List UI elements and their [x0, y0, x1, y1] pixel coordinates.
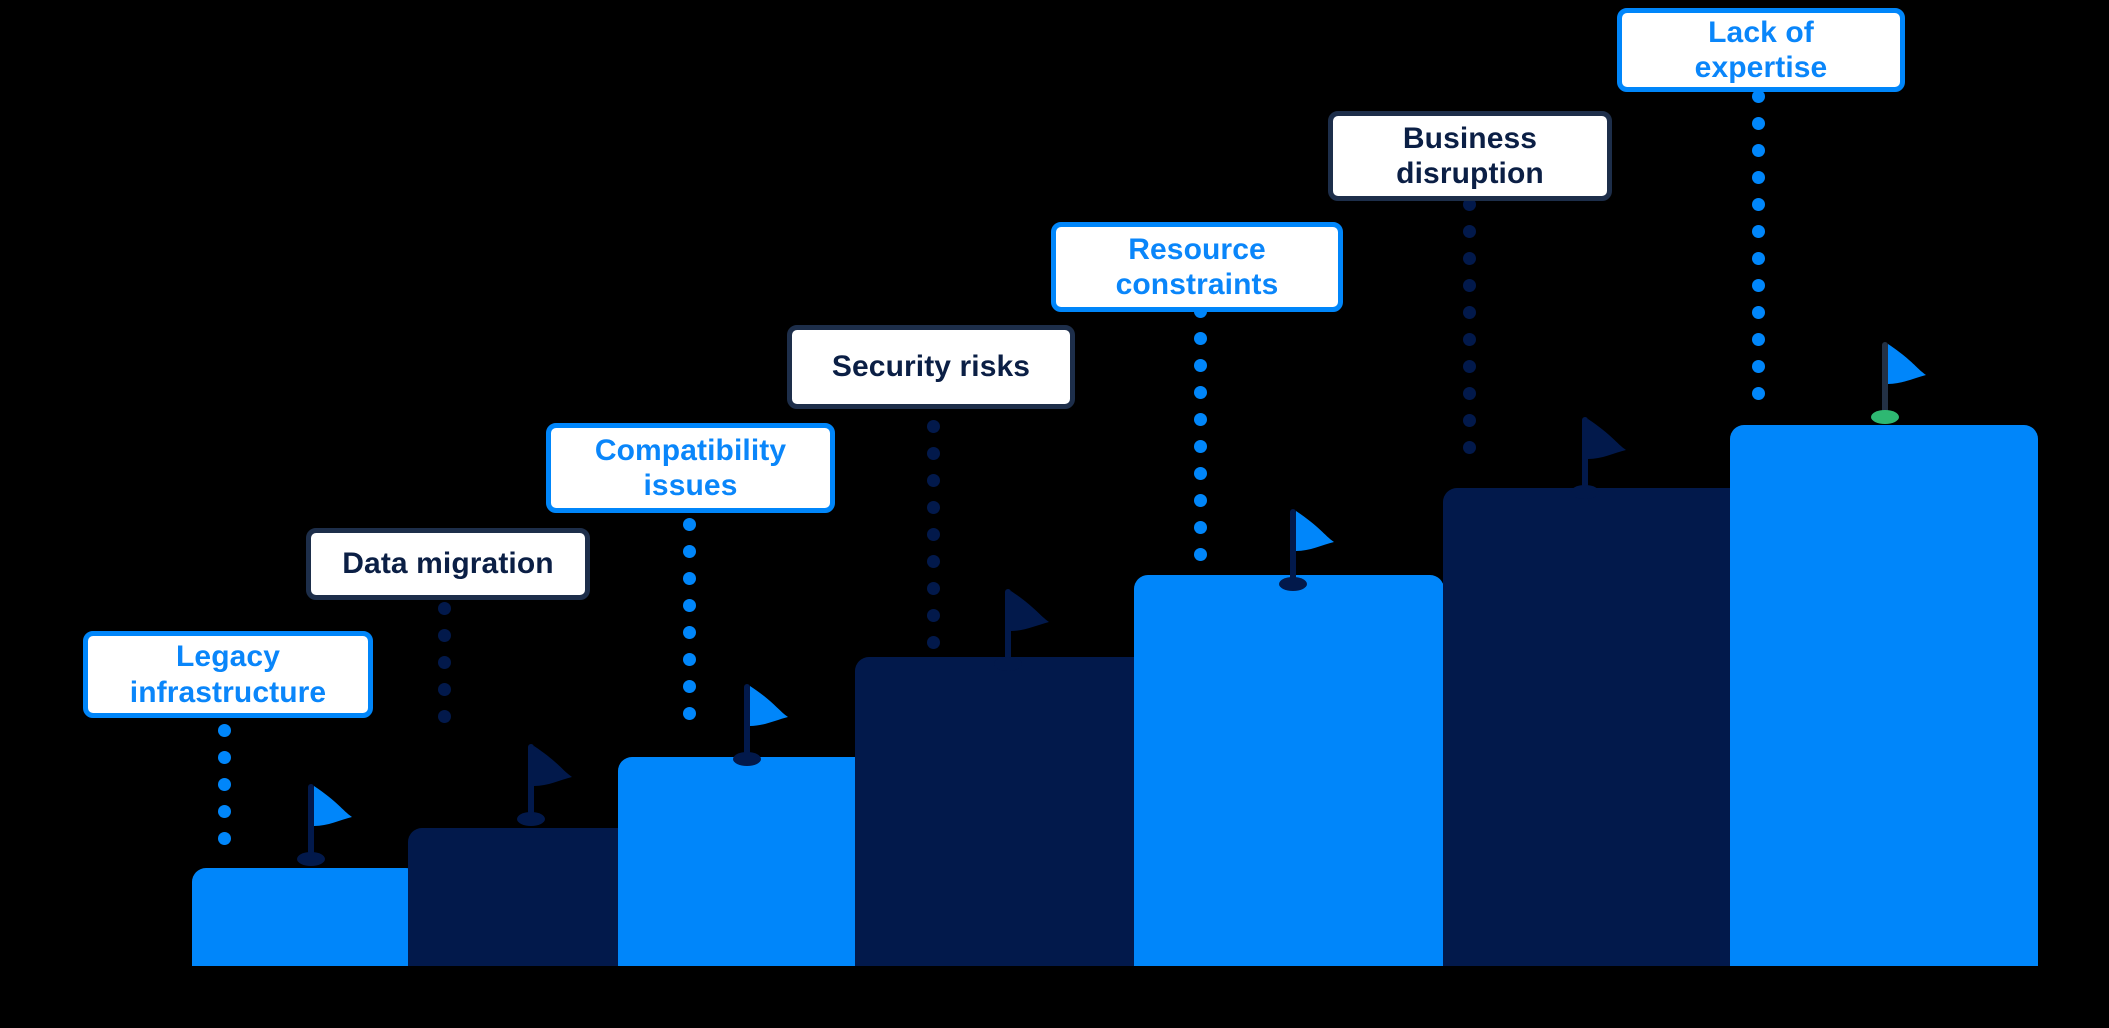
leader-dot — [1463, 441, 1476, 454]
leader-dot — [927, 528, 940, 541]
bar-compatibility-issues[interactable] — [618, 757, 880, 966]
callout-label-data-migration[interactable]: Data migration — [306, 528, 590, 600]
leader-dot — [1463, 387, 1476, 400]
leader-dot — [218, 805, 231, 818]
leader-dot — [1194, 386, 1207, 399]
callout-label-lack-of-expertise[interactable]: Lack of expertise — [1617, 8, 1905, 92]
callout-label-text: Lack of expertise — [1638, 15, 1884, 85]
leader-dot — [1463, 360, 1476, 373]
leader-dot — [218, 832, 231, 845]
leader-dot — [1194, 359, 1207, 372]
dotted-leader-line — [1463, 198, 1476, 478]
callout-label-text: Data migration — [342, 546, 553, 581]
leader-dot — [1752, 360, 1765, 373]
bar-lack-of-expertise[interactable] — [1730, 425, 2038, 966]
leader-dot — [1752, 117, 1765, 130]
leader-dot — [683, 545, 696, 558]
callout-label-compatibility-issues[interactable]: Compatibility issues — [546, 423, 835, 513]
leader-dot — [1463, 225, 1476, 238]
leader-dot — [1463, 414, 1476, 427]
leader-dot — [927, 501, 940, 514]
leader-dot — [683, 680, 696, 693]
dotted-leader-line — [1194, 305, 1207, 570]
leader-dot — [1194, 548, 1207, 561]
leader-dot — [683, 572, 696, 585]
bar-business-disruption[interactable] — [1443, 488, 1773, 966]
leader-dot — [683, 599, 696, 612]
flag-icon — [508, 740, 586, 826]
callout-label-text: Compatibility issues — [595, 433, 786, 503]
flag-icon — [1562, 413, 1640, 499]
leader-dot — [1752, 279, 1765, 292]
leader-dot — [1194, 521, 1207, 534]
leader-dot — [438, 602, 451, 615]
leader-dot — [218, 751, 231, 764]
leader-dot — [438, 683, 451, 696]
leader-dot — [1752, 225, 1765, 238]
leader-dot — [683, 518, 696, 531]
callout-label-text: Business disruption — [1396, 121, 1544, 191]
leader-dot — [1194, 332, 1207, 345]
callout-label-resource-constraints[interactable]: Resource constraints — [1051, 222, 1343, 312]
leader-dot — [1194, 494, 1207, 507]
leader-dot — [927, 636, 940, 649]
flag-icon — [724, 680, 802, 766]
leader-dot — [1752, 333, 1765, 346]
callout-label-text: Resource constraints — [1116, 232, 1279, 302]
leader-dot — [1752, 252, 1765, 265]
callout-label-legacy-infrastructure[interactable]: Legacy infrastructure — [83, 631, 373, 718]
dotted-leader-line — [1752, 90, 1765, 410]
leader-dot — [1194, 413, 1207, 426]
leader-dot — [927, 447, 940, 460]
dotted-leader-line — [927, 420, 940, 652]
leader-dot — [927, 609, 940, 622]
leader-dot — [683, 626, 696, 639]
leader-dot — [1463, 252, 1476, 265]
leader-dot — [927, 474, 940, 487]
leader-dot — [927, 555, 940, 568]
leader-dot — [438, 629, 451, 642]
leader-dot — [438, 656, 451, 669]
leader-dot — [1194, 467, 1207, 480]
chart-canvas: Legacy infrastructureData migrationCompa… — [0, 0, 2109, 1028]
leader-dot — [438, 710, 451, 723]
leader-dot — [1194, 440, 1207, 453]
leader-dot — [1752, 144, 1765, 157]
leader-dot — [218, 778, 231, 791]
flag-icon — [1862, 338, 1940, 424]
leader-dot — [1752, 198, 1765, 211]
callout-label-business-disruption[interactable]: Business disruption — [1328, 111, 1612, 201]
leader-dot — [683, 653, 696, 666]
bar-legacy-infrastructure[interactable] — [192, 868, 420, 966]
leader-dot — [683, 707, 696, 720]
callout-label-security-risks[interactable]: Security risks — [787, 325, 1075, 409]
callout-label-text: Legacy infrastructure — [130, 639, 326, 709]
leader-dot — [1752, 171, 1765, 184]
bar-security-risks[interactable] — [855, 657, 1160, 966]
dotted-leader-line — [218, 724, 231, 854]
leader-dot — [1463, 333, 1476, 346]
leader-dot — [1752, 306, 1765, 319]
dotted-leader-line — [683, 518, 696, 744]
leader-dot — [1752, 387, 1765, 400]
leader-dot — [927, 582, 940, 595]
leader-dot — [1463, 306, 1476, 319]
callout-label-text: Security risks — [832, 349, 1030, 384]
dotted-leader-line — [438, 602, 451, 732]
leader-dot — [1463, 279, 1476, 292]
leader-dot — [218, 724, 231, 737]
flag-icon — [288, 780, 366, 866]
leader-dot — [927, 420, 940, 433]
bar-resource-constraints[interactable] — [1134, 575, 1444, 966]
